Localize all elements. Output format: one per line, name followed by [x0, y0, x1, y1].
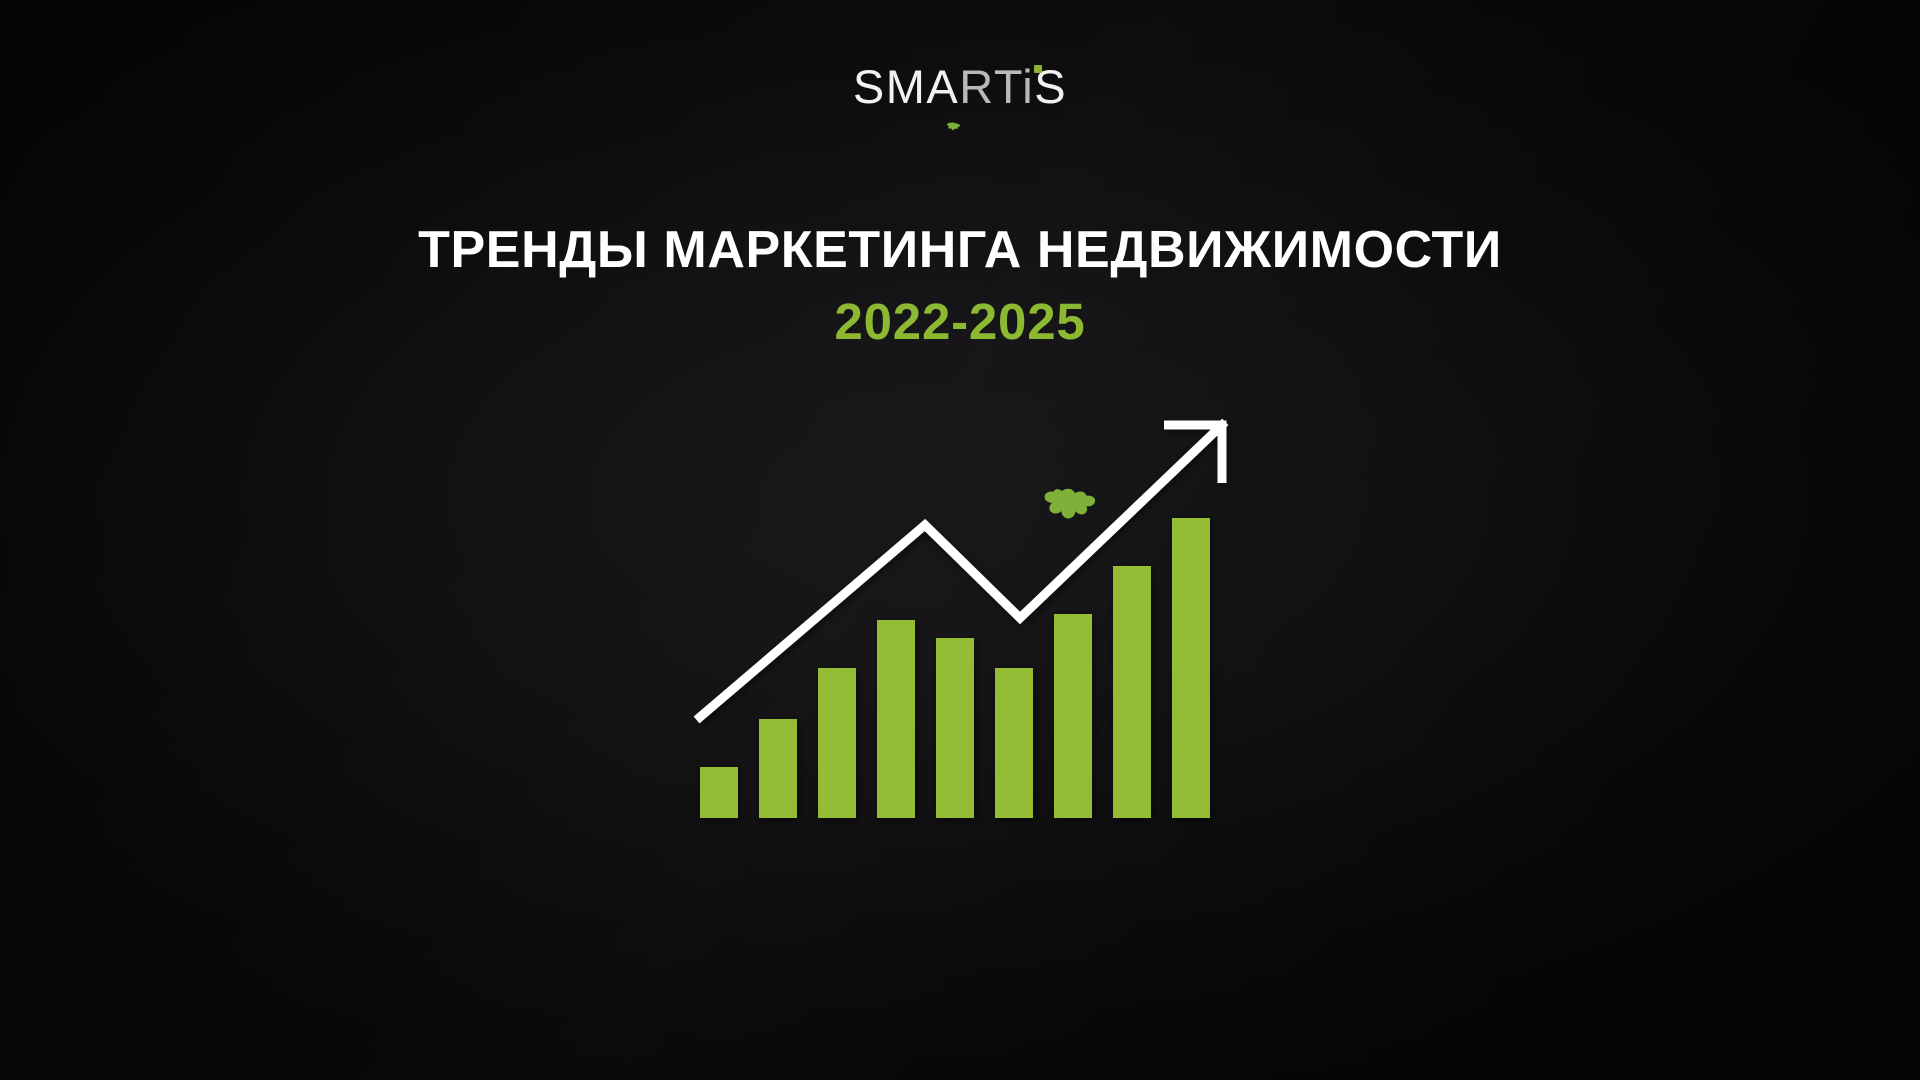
brand-logo[interactable]: SMARTiS — [0, 56, 1920, 116]
chart-bar — [877, 620, 915, 818]
headline-block: ТРЕНДЫ МАРКЕТИНГА НЕДВИЖИМОСТИ 2022-2025 — [0, 222, 1920, 347]
chart-bar — [759, 719, 797, 818]
logo-text-sma: SMA — [853, 60, 959, 113]
logo-text-rt: RT — [959, 60, 1022, 113]
green-splat-icon — [945, 95, 962, 108]
green-splat-icon — [1045, 489, 1096, 519]
chart-bar — [818, 668, 856, 818]
chart-bar — [1113, 566, 1151, 818]
chart-bar — [936, 638, 974, 818]
logo-wordmark: SMARTiS — [853, 63, 1067, 110]
slide-canvas: SMARTiS ТРЕНДЫ МАРКЕТИНГА НЕДВИЖИМОСТИ 2… — [0, 0, 1920, 1080]
page-subtitle: 2022-2025 — [0, 296, 1920, 347]
chart-illustration — [660, 400, 1280, 840]
logo-text-i: i — [1022, 60, 1034, 113]
chart-svg — [660, 400, 1280, 840]
page-title: ТРЕНДЫ МАРКЕТИНГА НЕДВИЖИМОСТИ — [0, 222, 1920, 278]
bar-series — [700, 518, 1210, 818]
chart-bar — [1172, 518, 1210, 818]
chart-bar — [700, 767, 738, 818]
chart-bar — [995, 668, 1033, 818]
chart-bar — [1054, 614, 1092, 818]
green-dot-icon — [1034, 65, 1042, 73]
